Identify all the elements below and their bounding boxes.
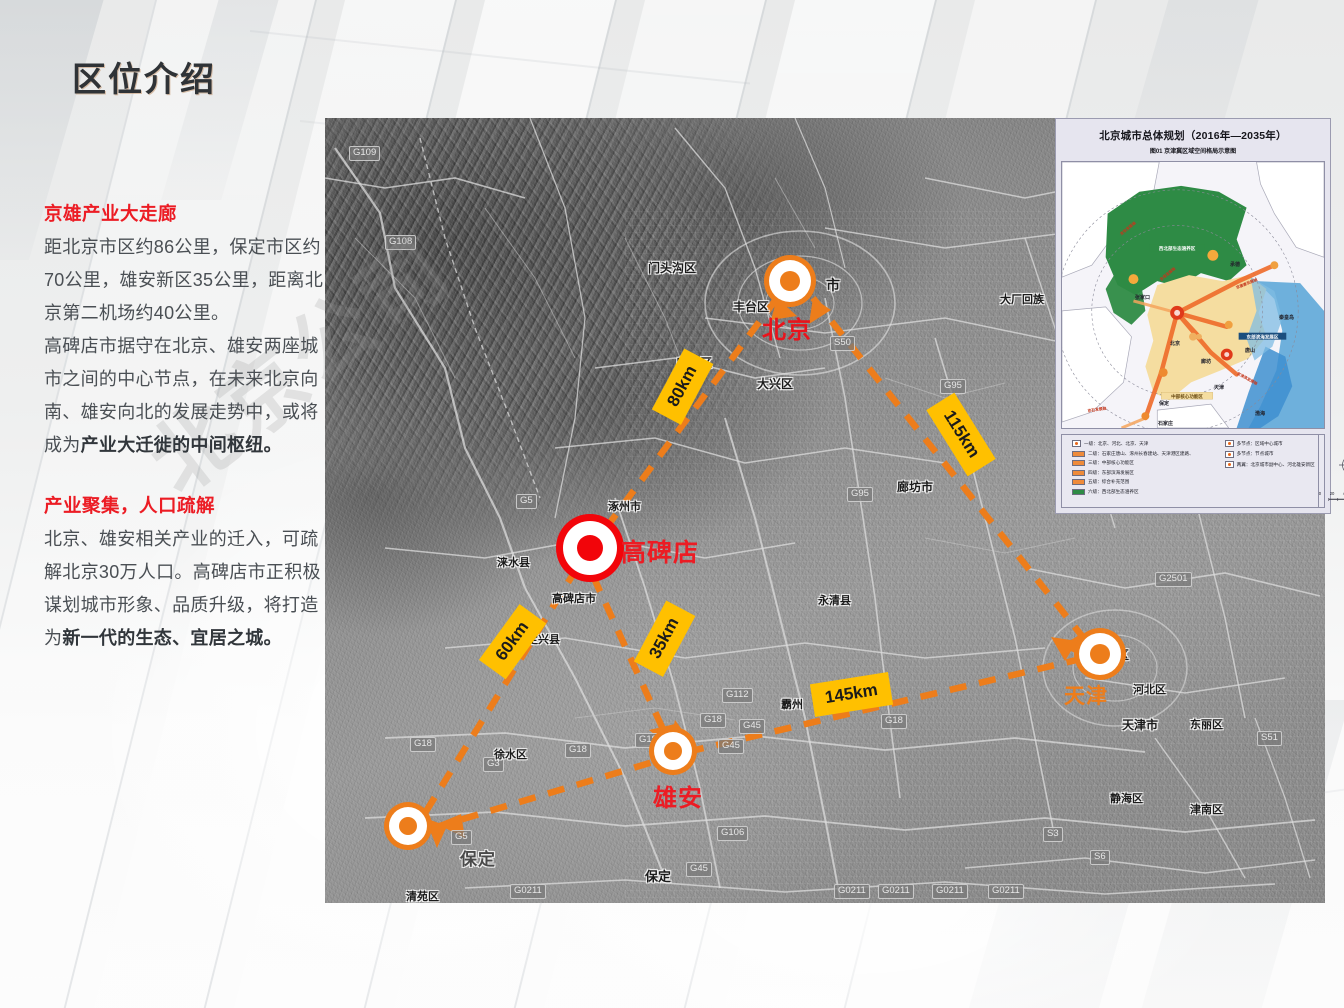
legend-row: 两翼：北京城市副中心、河北雄安新区 (1225, 461, 1315, 468)
legend-dot-core (1228, 463, 1231, 466)
section-paragraph: 北京、雄安相关产业的迁入，可疏解北京30万人口。高碑店市正积极谋划城市形象、品质… (44, 523, 336, 655)
inset-legend-columns: 一级：北京、河北、北京、天津二级：石家庄唐山、涿州长春建站、天津港区建路、三级：… (1062, 435, 1318, 507)
place-label: 徐水区 (494, 746, 527, 762)
inset-map-body: 西北部生态涵养区 中部核心功能区 东部滨海发展区 京张发展轴 京保发展轴 京唐秦… (1061, 161, 1325, 429)
road-shield: G45 (718, 739, 744, 754)
city-marker-gaobeidian[interactable] (563, 521, 617, 575)
legend-row-label: 二级：石家庄唐山、涿州长春建站、天津港区建路、 (1088, 451, 1194, 457)
scale-label: 比例尺 (1319, 481, 1344, 487)
road-shield: G0211 (878, 884, 914, 899)
legend-line-icon (1072, 460, 1085, 466)
road-shield: G95 (847, 487, 873, 502)
city-marker-core (399, 817, 417, 835)
inset-city-label: 北京 (1170, 340, 1180, 347)
inset-city-label: 保定 (1159, 400, 1169, 407)
road-shield: G18 (700, 713, 726, 728)
scale-tick: 0 (1319, 491, 1321, 497)
inset-compass-scale: 北 比例尺 0204080120公里 (1318, 435, 1344, 507)
inset-title: 北京城市总体规划（2016年—2035年） (1061, 128, 1325, 143)
inset-city-label: 张家口 (1135, 294, 1150, 301)
scale-tick-labels: 0204080120公里 (1319, 491, 1344, 497)
legend-dot-icon (1225, 440, 1234, 447)
place-label: 霸州 (781, 696, 803, 712)
section-paragraph: 距北京市区约86公里，保定市区约70公里，雄安新区35公里，距离北京第二机场约4… (44, 231, 336, 330)
section-heading: 产业聚集，人口疏解 (44, 492, 336, 518)
route-arrowheads (425, 298, 1085, 848)
inset-city-label: 唐山 (1245, 347, 1255, 354)
inset-city-labels: 北京天津唐山承德张家口秦皇岛保定沧州廊坊石家庄渤海 (1062, 162, 1324, 428)
road-shield: G18 (881, 714, 907, 729)
page-title: 区位介绍 (72, 52, 216, 101)
inset-city-label: 承德 (1230, 261, 1240, 268)
place-label: 天津市 (1122, 716, 1158, 733)
legend-row: 一级：北京、河北、北京、天津 (1072, 440, 1194, 447)
inset-plan-map[interactable]: 北京城市总体规划（2016年—2035年） 图01 京津冀区域空间格局示意图 (1055, 118, 1331, 514)
place-label: 津南区 (1190, 801, 1223, 817)
legend-dot-core (1075, 442, 1078, 445)
legend-swatch-icon (1072, 489, 1085, 495)
section-population-relief: 产业聚集，人口疏解 北京、雄安相关产业的迁入，可疏解北京30万人口。高碑店市正积… (44, 492, 336, 655)
place-label: 丰台区 (733, 298, 769, 315)
inset-city-label: 秦皇岛 (1279, 314, 1294, 321)
legend-dot-icon (1225, 451, 1234, 458)
route-xiongan-tianjin (687, 658, 1085, 752)
legend-line-icon (1072, 479, 1085, 485)
place-label: 市 (826, 275, 840, 295)
road-shield: G5 (451, 830, 472, 845)
paragraph-run-bold: 新一代的生态、宜居之城。 (62, 628, 282, 648)
compass-icon: 北 (1335, 445, 1344, 479)
road-shield: G45 (739, 719, 765, 734)
place-label: 涞水县 (497, 554, 530, 570)
legend-row: 五级：综合补充范围 (1072, 479, 1194, 485)
legend-row-label: 一级：北京、河北、北京、天津 (1084, 441, 1148, 447)
place-label: 永清县 (818, 592, 851, 608)
legend-row-label: 六级：西北部生态涵养区 (1088, 489, 1139, 495)
place-label: 清苑区 (406, 888, 439, 903)
place-label: 保定 (645, 866, 671, 885)
inset-subtitle: 图01 京津冀区域空间格局示意图 (1061, 146, 1325, 155)
inset-legend-column-right: 多节点：区域中心城市多节点：节点城市两翼：北京城市副中心、河北雄安新区 (1225, 440, 1315, 504)
road-shield: G112 (722, 688, 753, 703)
legend-row-label: 四级：东部滨海发展区 (1088, 470, 1134, 476)
legend-dot-core (1228, 442, 1231, 445)
city-marker-core (577, 535, 603, 561)
legend-dot-icon (1072, 440, 1081, 447)
legend-line-icon (1072, 470, 1085, 476)
section-spacer (44, 462, 336, 492)
legend-row-label: 五级：综合补充范围 (1088, 479, 1129, 485)
inset-legend: 一级：北京、河北、北京、天津二级：石家庄唐山、涿州长春建站、天津港区建路、三级：… (1061, 434, 1325, 508)
place-label: 静海区 (1110, 790, 1143, 806)
place-label: 河北区 (1133, 681, 1166, 697)
road-shield: G0211 (988, 884, 1024, 899)
road-shield: G45 (686, 862, 712, 877)
road-shield: G109 (349, 146, 380, 161)
inset-city-label: 廊坊 (1201, 358, 1211, 365)
inset-legend-column-left: 一级：北京、河北、北京、天津二级：石家庄唐山、涿州长春建站、天津港区建路、三级：… (1072, 440, 1194, 504)
road-shield: G106 (717, 826, 748, 841)
legend-dot-icon (1225, 461, 1234, 468)
road-shield: G18 (410, 737, 436, 752)
place-label: 东丽区 (1190, 716, 1223, 732)
city-marker-beijing[interactable] (769, 260, 811, 302)
city-marker-core (1090, 644, 1110, 664)
route-baoding-xiongan (433, 756, 673, 828)
legend-row: 多节点：节点城市 (1225, 451, 1315, 458)
road-shield: S6 (1090, 850, 1110, 865)
road-shield: G5 (516, 494, 537, 509)
road-shield: G0211 (510, 884, 546, 899)
legend-row-label: 三级：中部核心功能区 (1088, 460, 1134, 466)
road-shield: S51 (1257, 731, 1282, 746)
city-marker-core (780, 271, 800, 291)
city-marker-baoding[interactable] (389, 807, 427, 845)
place-label: 房山区 (676, 354, 712, 371)
section-paragraph: 高碑店市据守在北京、雄安两座城市之间的中心节点，在未来北京向南、雄安向北的发展走… (44, 330, 336, 462)
place-label: 大厂回族 (1000, 291, 1044, 307)
section-heading: 京雄产业大走廊 (44, 200, 336, 226)
road-shield: S3 (1043, 827, 1063, 842)
legend-row: 六级：西北部生态涵养区 (1072, 489, 1194, 495)
road-shield: G0211 (834, 884, 870, 899)
section-industry-corridor: 京雄产业大走廊 距北京市区约86公里，保定市区约70公里，雄安新区35公里，距离… (44, 200, 336, 462)
road-shield: G108 (385, 235, 416, 250)
inset-city-label: 石家庄 (1158, 420, 1173, 427)
road-shield: G18 (565, 743, 591, 758)
legend-row-label: 两翼：北京城市副中心、河北雄安新区 (1237, 462, 1315, 468)
place-label: 涿州市 (608, 498, 641, 514)
legend-row-label: 多节点：区域中心城市 (1237, 441, 1283, 447)
legend-row-label: 多节点：节点城市 (1237, 451, 1274, 457)
legend-row: 二级：石家庄唐山、涿州长春建站、天津港区建路、 (1072, 451, 1194, 457)
place-label: 廊坊市 (897, 478, 933, 495)
paragraph-run-bold: 产业大迁徙的中间枢纽。 (81, 435, 282, 455)
road-shield: G2501 (1155, 572, 1192, 587)
legend-row: 四级：东部滨海发展区 (1072, 470, 1194, 476)
city-marker-tianjin[interactable] (1079, 633, 1121, 675)
inset-header: 北京城市总体规划（2016年—2035年） 图01 京津冀区域空间格局示意图 (1061, 124, 1325, 157)
legend-row: 三级：中部核心功能区 (1072, 460, 1194, 466)
legend-line-icon (1072, 451, 1085, 457)
left-text-column: 京雄产业大走廊 距北京市区约86公里，保定市区约70公里，雄安新区35公里，距离… (44, 200, 336, 655)
road-shield: G95 (940, 379, 966, 394)
place-label: 定兴县 (527, 631, 560, 647)
legend-dot-core (1228, 453, 1231, 456)
city-marker-xiongan[interactable] (654, 732, 692, 770)
place-label: 高碑店市 (552, 590, 596, 606)
scale-bar-group: 比例尺 0204080120公里 (1319, 481, 1344, 497)
scale-tick: 20 (1330, 491, 1335, 497)
route-gaobeidian-xiongan (593, 576, 667, 738)
city-marker-core (664, 742, 682, 760)
legend-row: 多节点：区域中心城市 (1225, 440, 1315, 447)
inset-city-label: 渤海 (1255, 410, 1265, 417)
place-label: 大兴区 (757, 375, 793, 392)
paragraph-run: 距北京市区约86公里，保定市区约70公里，雄安新区35公里，距离北京第二机场约4… (44, 237, 323, 323)
place-label: 门头沟区 (648, 259, 696, 276)
scale-bar (1321, 488, 1344, 491)
road-shield: G0211 (932, 884, 968, 899)
road-shield: S50 (830, 336, 855, 351)
inset-city-label: 天津 (1214, 384, 1224, 391)
